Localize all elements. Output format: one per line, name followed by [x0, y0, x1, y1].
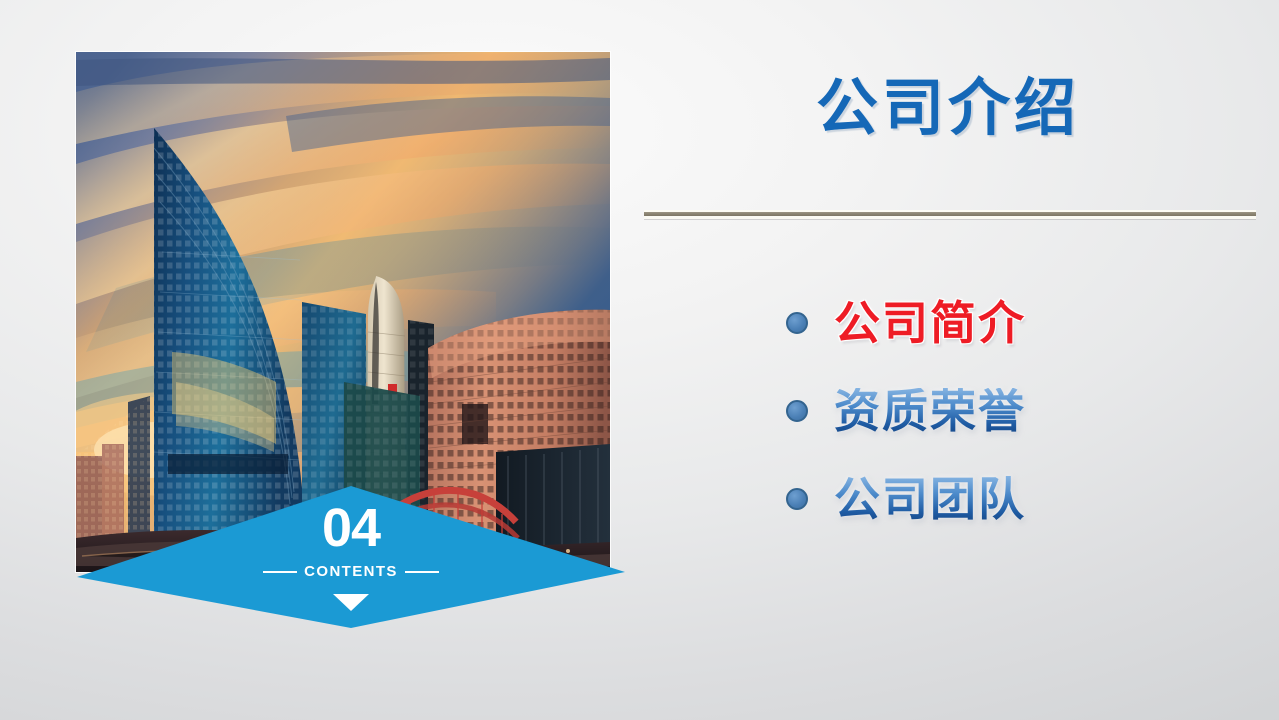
contents-badge: 04 CONTENTS: [76, 450, 626, 630]
agenda-item-company-profile[interactable]: 公司简介: [786, 292, 1256, 354]
diamond-shape: [76, 450, 626, 630]
bullet-dot-icon: [786, 488, 808, 510]
agenda-item-qualifications-honors[interactable]: 资质荣誉: [786, 380, 1256, 442]
agenda-item-label: 公司简介: [834, 300, 1026, 346]
bullet-dot-icon: [786, 312, 808, 334]
page-title: 公司介绍: [640, 76, 1256, 141]
presentation-slide: 04 CONTENTS 公司介绍 公司简介 资质荣誉: [0, 0, 1279, 720]
bullet-dot-icon: [786, 400, 808, 422]
right-content-column: 公司介绍 公司简介 资质荣誉 公司团队: [640, 62, 1260, 582]
agenda-item-label: 公司团队: [834, 476, 1026, 522]
agenda-list: 公司简介 资质荣誉 公司团队: [786, 292, 1256, 556]
divider-shadow: [644, 219, 1256, 220]
title-divider: [644, 210, 1256, 222]
agenda-item-company-team[interactable]: 公司团队: [786, 468, 1256, 530]
agenda-item-label: 资质荣誉: [834, 388, 1026, 434]
